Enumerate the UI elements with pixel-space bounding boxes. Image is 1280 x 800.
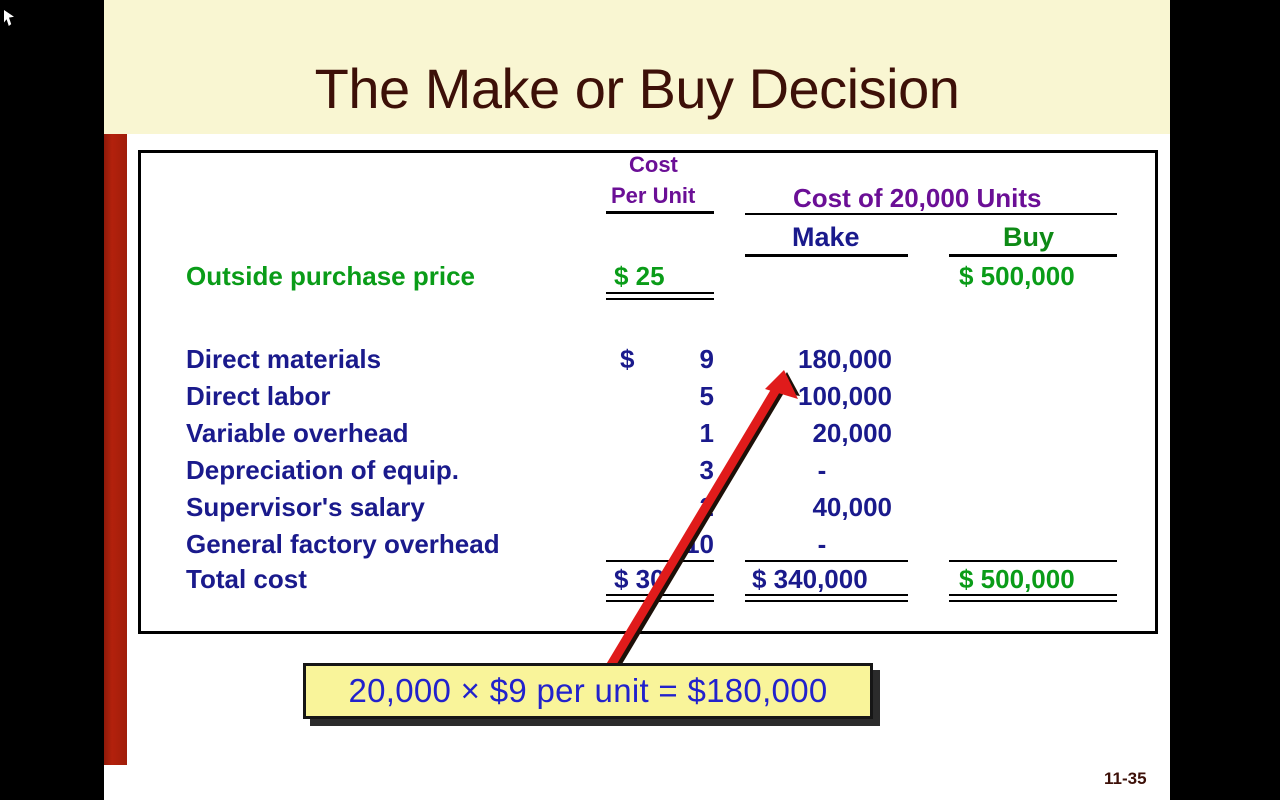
rule-total-buy-top [949, 560, 1117, 562]
header-cost: Cost [629, 152, 678, 178]
page-number: 11-35 [1104, 769, 1147, 789]
rule-total-per-unit-dbl2 [606, 600, 714, 602]
cell-direct-materials-per-unit: 9 [660, 344, 714, 375]
cell-depreciation-per-unit: 3 [660, 455, 714, 486]
rule-make-header [745, 254, 908, 257]
row-label-variable-overhead: Variable overhead [186, 418, 409, 449]
title-banner: The Make or Buy Decision [104, 0, 1170, 134]
page-title: The Make or Buy Decision [104, 56, 1170, 121]
row-label-general-factory-overhead: General factory overhead [186, 529, 500, 560]
rule-outside-per-unit-top [606, 292, 714, 294]
cell-total-cost-per-unit: $ 30 [614, 564, 665, 595]
mouse-cursor-artifact [4, 10, 14, 26]
header-make: Make [792, 222, 860, 253]
rule-total-buy-dbl2 [949, 600, 1117, 602]
rule-total-per-unit-dbl1 [606, 594, 714, 596]
cell-supervisors-salary-make: 40,000 [752, 492, 892, 523]
row-label-direct-materials: Direct materials [186, 344, 381, 375]
row-label-direct-labor: Direct labor [186, 381, 331, 412]
rule-total-per-unit-top [606, 560, 714, 562]
header-per-unit: Per Unit [611, 183, 695, 209]
row-label-total-cost: Total cost [186, 564, 307, 595]
cell-outside-purchase-per-unit: $ 25 [614, 261, 665, 292]
rule-total-make-dbl1 [745, 594, 908, 596]
cell-variable-overhead-per-unit: 1 [660, 418, 714, 449]
rule-total-make-top [745, 560, 908, 562]
row-label-outside-purchase-price: Outside purchase price [186, 261, 475, 292]
header-buy: Buy [1003, 222, 1054, 253]
row-label-supervisors-salary: Supervisor's salary [186, 492, 425, 523]
cell-total-cost-buy: $ 500,000 [959, 564, 1075, 595]
cell-direct-materials-currency: $ [620, 344, 634, 375]
cell-supervisors-salary-per-unit: 2 [660, 492, 714, 523]
cell-general-factory-overhead-make: - [752, 529, 892, 560]
cell-total-cost-make: $ 340,000 [752, 564, 868, 595]
rule-outside-per-unit-bottom [606, 298, 714, 300]
cell-direct-labor-per-unit: 5 [660, 381, 714, 412]
rule-total-make-dbl2 [745, 600, 908, 602]
rule-per-unit-header [606, 211, 714, 214]
cell-variable-overhead-make: 20,000 [752, 418, 892, 449]
rule-cost-of-units-header [745, 213, 1117, 215]
left-accent-bar [104, 134, 127, 765]
callout-box: 20,000 × $9 per unit = $180,000 [303, 663, 873, 719]
cell-direct-labor-make: 100,000 [752, 381, 892, 412]
callout-text: 20,000 × $9 per unit = $180,000 [348, 672, 827, 710]
header-cost-of-units: Cost of 20,000 Units [793, 183, 1042, 214]
rule-buy-header [949, 254, 1117, 257]
cell-depreciation-make: - [752, 455, 892, 486]
cell-general-factory-overhead-per-unit: 10 [660, 529, 714, 560]
row-label-depreciation-of-equip: Depreciation of equip. [186, 455, 459, 486]
rule-total-buy-dbl1 [949, 594, 1117, 596]
right-black-margin [1170, 0, 1280, 800]
cell-outside-purchase-buy: $ 500,000 [959, 261, 1075, 292]
slide-stage: The Make or Buy Decision Cost Per Unit C… [0, 0, 1280, 800]
cell-direct-materials-make: 180,000 [752, 344, 892, 375]
